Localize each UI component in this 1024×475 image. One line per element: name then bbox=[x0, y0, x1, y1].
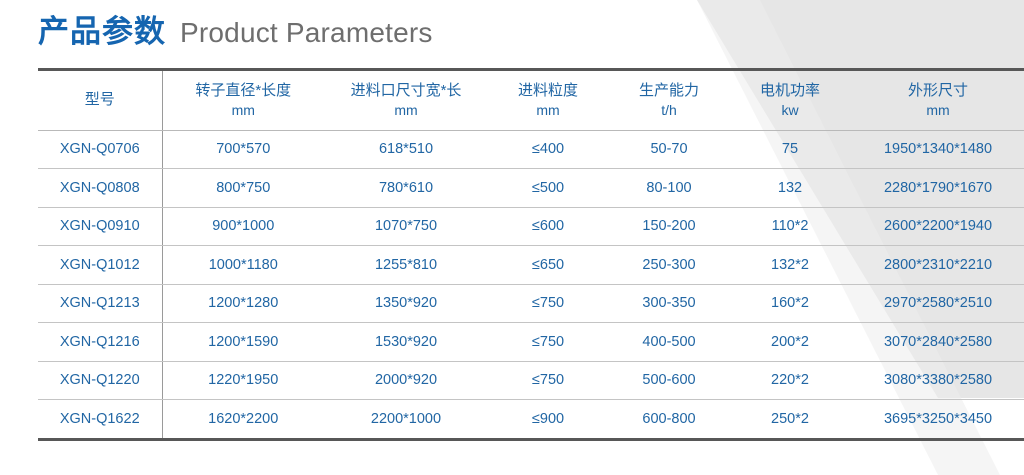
cell-model: XGN-Q1216 bbox=[38, 323, 162, 362]
column-header-unit: kw bbox=[732, 101, 848, 119]
page-title: 产品参数 Product Parameters bbox=[38, 16, 433, 47]
column-header-unit: mm bbox=[852, 101, 1024, 119]
table-cell: 200*2 bbox=[730, 323, 850, 362]
table-row: XGN-Q16221620*22002200*1000≤900600-80025… bbox=[38, 400, 1024, 440]
table-cell: 3695*3250*3450 bbox=[850, 400, 1024, 440]
table-cell: 600-800 bbox=[608, 400, 730, 440]
table-cell: 80-100 bbox=[608, 169, 730, 208]
table-row: XGN-Q0706700*570618*510≤40050-70751950*1… bbox=[38, 130, 1024, 169]
table-row: XGN-Q12201220*19502000*920≤750500-600220… bbox=[38, 361, 1024, 400]
table-cell: 900*1000 bbox=[162, 207, 324, 246]
product-parameters-page: 产品参数 Product Parameters 型号转子直径*长度mm进料口尺寸… bbox=[0, 0, 1024, 475]
table-header-row: 型号转子直径*长度mm进料口尺寸宽*长mm进料粒度mm生产能力t/h电机功率kw… bbox=[38, 70, 1024, 131]
table-cell: 300-350 bbox=[608, 284, 730, 323]
table-cell: 250-300 bbox=[608, 246, 730, 285]
product-parameters-table: 型号转子直径*长度mm进料口尺寸宽*长mm进料粒度mm生产能力t/h电机功率kw… bbox=[38, 68, 1024, 441]
table-body: XGN-Q0706700*570618*510≤40050-70751950*1… bbox=[38, 130, 1024, 439]
cell-model: XGN-Q1012 bbox=[38, 246, 162, 285]
column-header-6: 外形尺寸mm bbox=[850, 70, 1024, 131]
table-cell: ≤750 bbox=[488, 323, 608, 362]
table-cell: 132 bbox=[730, 169, 850, 208]
table-row: XGN-Q0808800*750780*610≤50080-1001322280… bbox=[38, 169, 1024, 208]
table-cell: ≤600 bbox=[488, 207, 608, 246]
table-cell: 3070*2840*2580 bbox=[850, 323, 1024, 362]
column-header-label: 转子直径*长度 bbox=[165, 81, 323, 101]
table-cell: 132*2 bbox=[730, 246, 850, 285]
table-cell: 50-70 bbox=[608, 130, 730, 169]
column-header-unit: t/h bbox=[610, 101, 728, 119]
table-cell: 1530*920 bbox=[324, 323, 488, 362]
table-cell: 3080*3380*2580 bbox=[850, 361, 1024, 400]
table-cell: 700*570 bbox=[162, 130, 324, 169]
column-header-1: 转子直径*长度mm bbox=[162, 70, 324, 131]
cell-model: XGN-Q0808 bbox=[38, 169, 162, 208]
table-cell: 150-200 bbox=[608, 207, 730, 246]
cell-model: XGN-Q1213 bbox=[38, 284, 162, 323]
column-header-label: 进料口尺寸宽*长 bbox=[326, 81, 486, 101]
table-cell: 500-600 bbox=[608, 361, 730, 400]
table-cell: 618*510 bbox=[324, 130, 488, 169]
column-header-2: 进料口尺寸宽*长mm bbox=[324, 70, 488, 131]
table-cell: ≤500 bbox=[488, 169, 608, 208]
column-header-5: 电机功率kw bbox=[730, 70, 850, 131]
cell-model: XGN-Q0706 bbox=[38, 130, 162, 169]
cell-model: XGN-Q1220 bbox=[38, 361, 162, 400]
spec-table-container: 型号转子直径*长度mm进料口尺寸宽*长mm进料粒度mm生产能力t/h电机功率kw… bbox=[38, 68, 986, 441]
table-cell: 1255*810 bbox=[324, 246, 488, 285]
table-row: XGN-Q12131200*12801350*920≤750300-350160… bbox=[38, 284, 1024, 323]
column-header-unit: mm bbox=[165, 101, 323, 119]
page-title-english: Product Parameters bbox=[180, 19, 433, 47]
table-cell: 1620*2200 bbox=[162, 400, 324, 440]
table-cell: 2970*2580*2510 bbox=[850, 284, 1024, 323]
table-cell: 2800*2310*2210 bbox=[850, 246, 1024, 285]
table-cell: 1000*1180 bbox=[162, 246, 324, 285]
table-cell: 1070*750 bbox=[324, 207, 488, 246]
table-cell: 160*2 bbox=[730, 284, 850, 323]
table-cell: 110*2 bbox=[730, 207, 850, 246]
table-cell: 780*610 bbox=[324, 169, 488, 208]
table-cell: 800*750 bbox=[162, 169, 324, 208]
column-header-label: 外形尺寸 bbox=[852, 81, 1024, 101]
page-title-chinese: 产品参数 bbox=[38, 16, 166, 47]
table-cell: 2280*1790*1670 bbox=[850, 169, 1024, 208]
column-header-0: 型号 bbox=[38, 70, 162, 131]
table-cell: 400-500 bbox=[608, 323, 730, 362]
table-cell: ≤650 bbox=[488, 246, 608, 285]
table-row: XGN-Q0910900*10001070*750≤600150-200110*… bbox=[38, 207, 1024, 246]
column-header-unit: mm bbox=[490, 101, 606, 119]
table-cell: 75 bbox=[730, 130, 850, 169]
table-cell: ≤900 bbox=[488, 400, 608, 440]
column-header-label: 生产能力 bbox=[610, 81, 728, 101]
table-cell: 250*2 bbox=[730, 400, 850, 440]
table-row: XGN-Q12161200*15901530*920≤750400-500200… bbox=[38, 323, 1024, 362]
column-header-label: 型号 bbox=[40, 90, 160, 110]
table-cell: 2000*920 bbox=[324, 361, 488, 400]
cell-model: XGN-Q1622 bbox=[38, 400, 162, 440]
table-cell: ≤750 bbox=[488, 361, 608, 400]
cell-model: XGN-Q0910 bbox=[38, 207, 162, 246]
table-cell: ≤750 bbox=[488, 284, 608, 323]
table-row: XGN-Q10121000*11801255*810≤650250-300132… bbox=[38, 246, 1024, 285]
table-header: 型号转子直径*长度mm进料口尺寸宽*长mm进料粒度mm生产能力t/h电机功率kw… bbox=[38, 70, 1024, 131]
table-cell: 1950*1340*1480 bbox=[850, 130, 1024, 169]
table-cell: 2600*2200*1940 bbox=[850, 207, 1024, 246]
column-header-unit: mm bbox=[326, 101, 486, 119]
table-cell: 220*2 bbox=[730, 361, 850, 400]
column-header-label: 电机功率 bbox=[732, 81, 848, 101]
table-cell: 1220*1950 bbox=[162, 361, 324, 400]
column-header-4: 生产能力t/h bbox=[608, 70, 730, 131]
table-cell: 1200*1280 bbox=[162, 284, 324, 323]
table-cell: 1350*920 bbox=[324, 284, 488, 323]
table-cell: 1200*1590 bbox=[162, 323, 324, 362]
table-cell: 2200*1000 bbox=[324, 400, 488, 440]
column-header-label: 进料粒度 bbox=[490, 81, 606, 101]
table-cell: ≤400 bbox=[488, 130, 608, 169]
column-header-3: 进料粒度mm bbox=[488, 70, 608, 131]
